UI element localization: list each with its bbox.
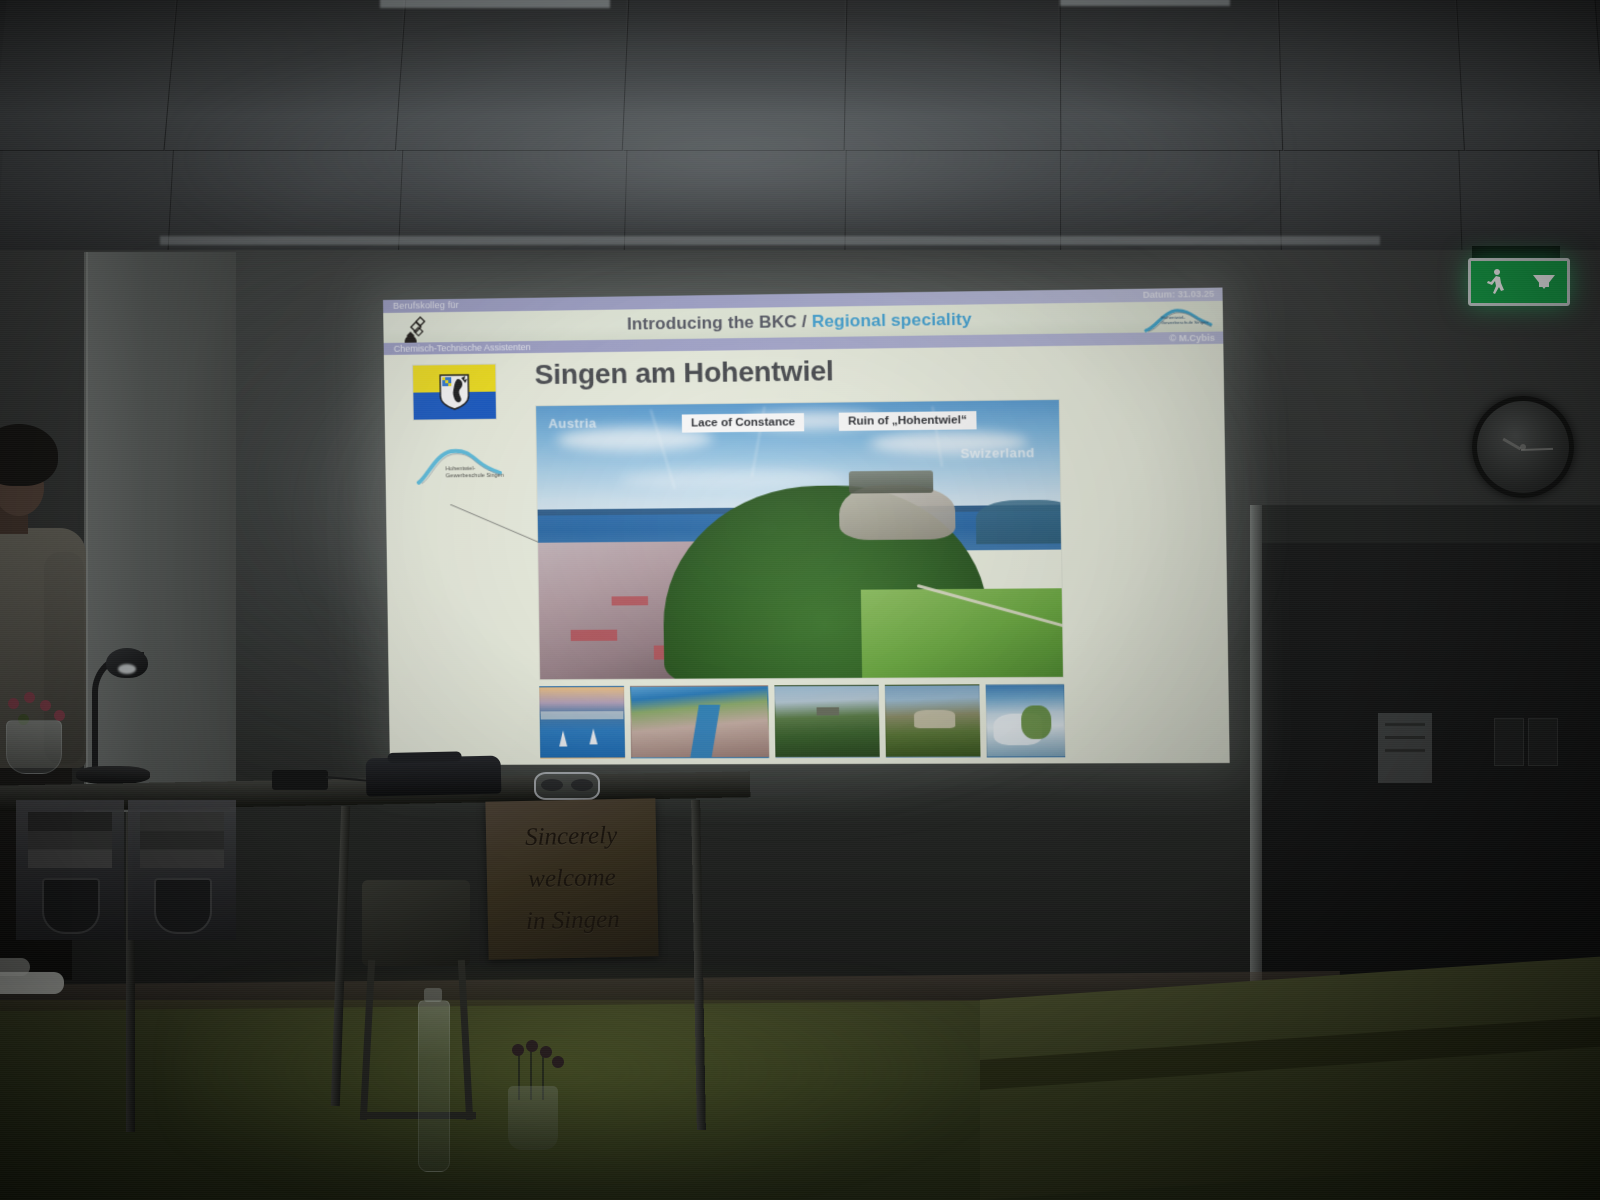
thumb-lake-sailboats[interactable] (539, 686, 625, 759)
header-school-type-label: Berufskolleg für (393, 299, 459, 313)
banner-line-3: in Singen (487, 898, 658, 944)
photo-scene: Berufskolleg für Datum: 31.03.25 Introdu… (0, 0, 1600, 1200)
stars-coat-of-arms-right (154, 878, 212, 934)
thumb-aerial-city-river[interactable] (630, 685, 769, 758)
school-logo-caption: Hohentwiel-Gewerbeschule Singen (446, 466, 516, 480)
header-copyright-label: © M.Cybis (1169, 332, 1215, 345)
light-switch-right[interactable] (1528, 718, 1558, 766)
power-adapter (272, 770, 328, 790)
label-austria: Austria (548, 416, 596, 432)
thumbnail-strip (539, 684, 1063, 757)
lion-crest-icon (439, 374, 470, 410)
ceiling-edge-light (160, 236, 1380, 245)
lion-coat-of-arms-left (42, 878, 100, 934)
thumb-hohentwiel-fortress[interactable] (774, 685, 879, 758)
wall-notice-paper (1378, 713, 1432, 783)
header-date-label: Datum: 31.03.25 (1143, 288, 1215, 302)
flower-vase-left (6, 720, 62, 774)
exit-down-arrow-icon (1533, 275, 1555, 289)
banner-line-2: welcome (487, 856, 658, 902)
projected-slide: Berufskolleg für Datum: 31.03.25 Introdu… (383, 288, 1230, 766)
black-bag (366, 756, 502, 797)
gooseneck-lamp-base (76, 766, 150, 784)
water-bottle-cap (424, 988, 442, 1002)
welcome-banner: Sincerely welcome in Singen (485, 798, 658, 960)
banner-line-1: Sincerely (486, 814, 657, 860)
water-bottle (418, 1000, 450, 1172)
flag-sheet-right (128, 800, 236, 940)
lamp-reflection (118, 664, 136, 674)
safety-goggles (534, 772, 600, 800)
header-logo-caption: Hohentwiel-Gewerbeschule Singen (1161, 314, 1208, 325)
flag-sheet-left (16, 800, 124, 940)
emergency-exit-sign (1468, 258, 1570, 306)
right-wall-header (1258, 505, 1600, 543)
ceiling-light-strip-2 (1060, 0, 1230, 6)
running-man-icon (1484, 268, 1508, 296)
ceiling-glow (180, 30, 1280, 240)
header-title-accent: Regional speciality (812, 310, 972, 332)
ceiling-light-strip (380, 0, 610, 8)
floor-light-spill (180, 985, 1000, 1200)
welcome-banner-text: Sincerely welcome in Singen (486, 814, 659, 944)
header-title-sep: / (797, 312, 812, 331)
label-lace-of-constance: Lace of Constance (682, 413, 805, 433)
singen-coat-of-arms-flag (412, 364, 497, 421)
slide-body: Hohentwiel-Gewerbeschule Singen Singen a… (384, 344, 1230, 765)
header-title-main: Introducing the BKC (627, 312, 797, 334)
slide-title: Singen am Hohentwiel (534, 355, 834, 391)
thumb-rhine-falls[interactable] (986, 684, 1066, 758)
light-switch-left[interactable] (1494, 718, 1524, 766)
wall-clock (1472, 396, 1574, 498)
flower-vase-floor (508, 1086, 558, 1150)
label-ruin-of-hohentwiel: Ruin of „Hohentwiel“ (839, 411, 977, 431)
hohentwiel-aerial-photo: Austria Lace of Constance Ruin of „Hohen… (535, 399, 1064, 680)
chair[interactable] (352, 880, 482, 1140)
ceiling (0, 0, 1600, 258)
label-swizerland: Swizerland (960, 445, 1034, 461)
thumb-rocky-fortress[interactable] (885, 684, 981, 757)
